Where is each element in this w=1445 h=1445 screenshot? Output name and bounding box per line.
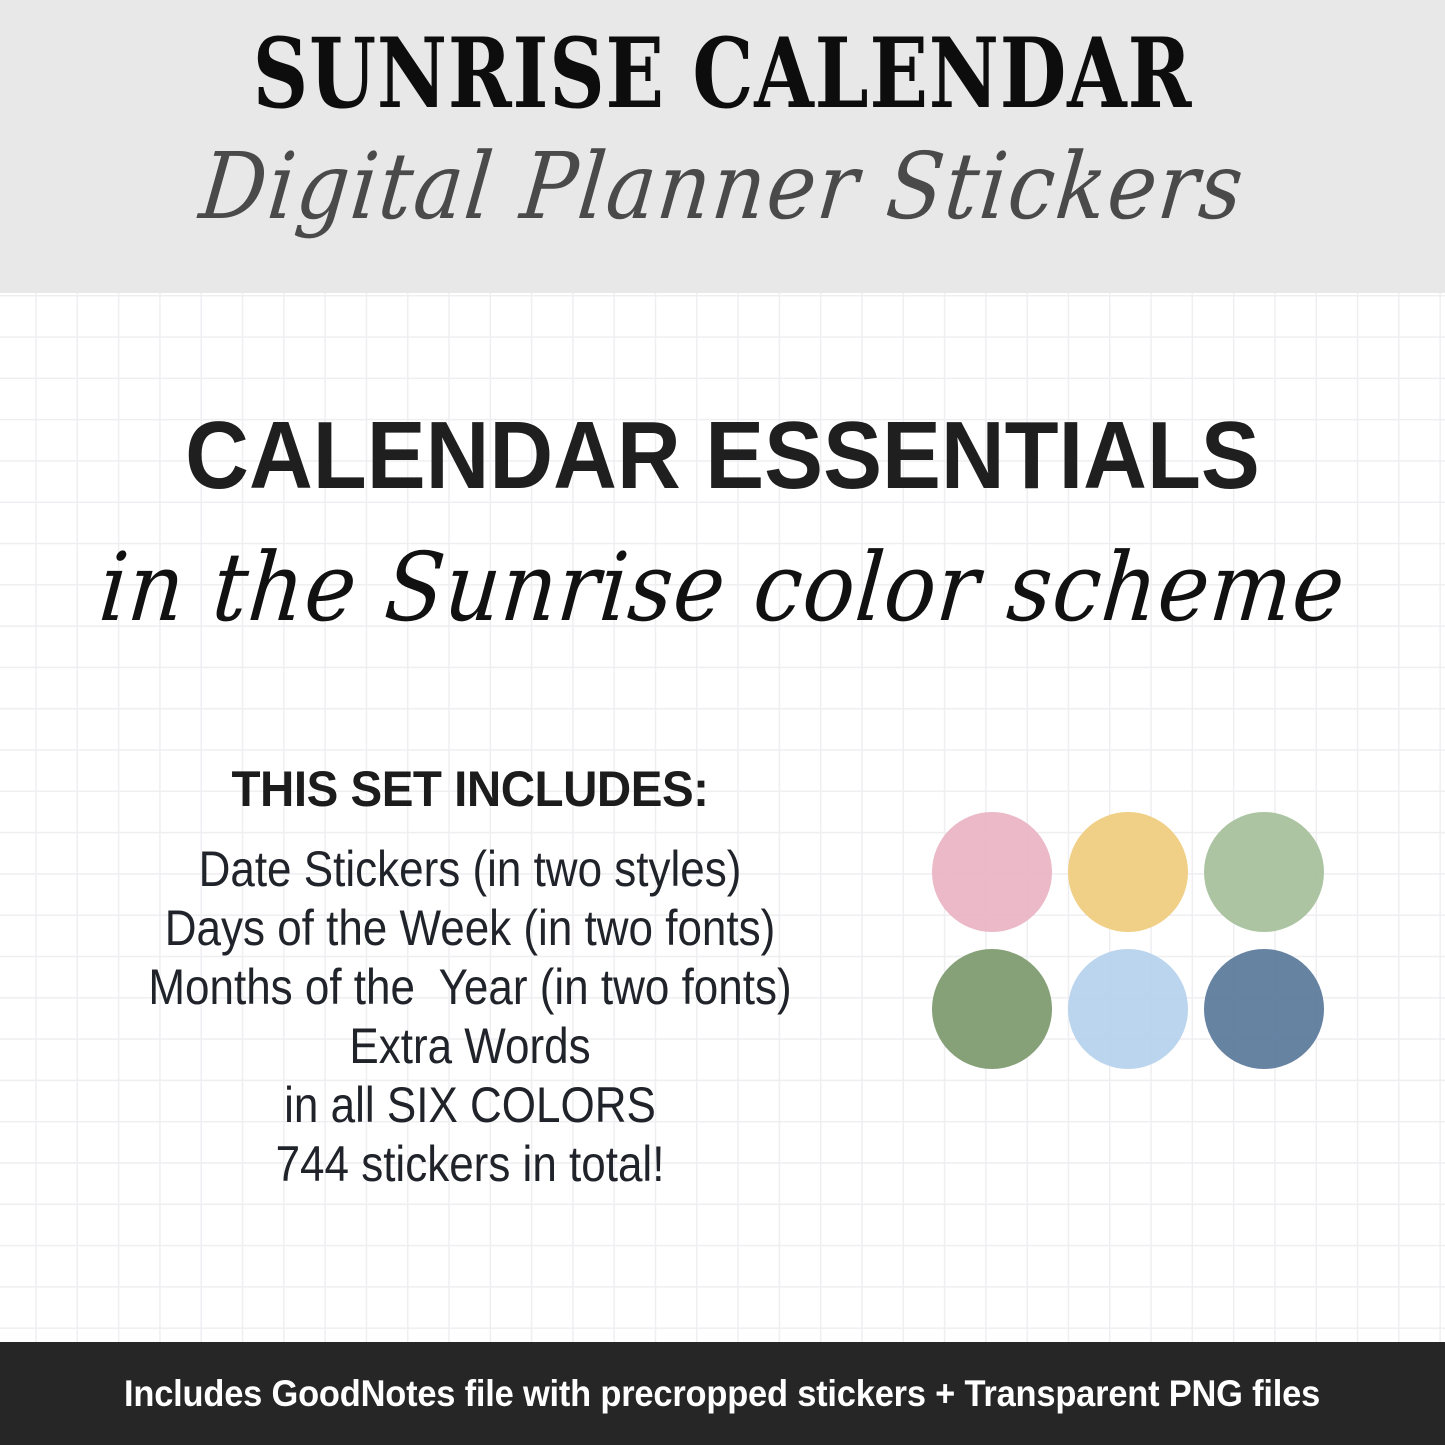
color-swatch-light-blue	[1068, 949, 1188, 1069]
page-subtitle: in the Sunrise color scheme	[0, 511, 1445, 665]
color-swatch-grid	[932, 812, 1324, 1069]
color-swatch-slate-blue	[1204, 949, 1324, 1069]
includes-list: Date Stickers (in two styles) Days of th…	[60, 840, 880, 1194]
list-item: Days of the Week (in two fonts)	[109, 899, 831, 958]
color-swatch-golden-yellow	[1068, 812, 1188, 932]
list-item: Date Stickers (in two styles)	[109, 840, 831, 899]
brand-title: SUNRISE CALENDAR	[145, 22, 1301, 126]
header-band: SUNRISE CALENDAR Digital Planner Sticker…	[0, 0, 1445, 293]
list-item: in all SIX COLORS	[109, 1076, 831, 1135]
page-title: CALENDAR ESSENTIALS	[58, 404, 1387, 508]
brand-subtitle: Digital Planner Stickers	[0, 121, 1445, 255]
includes-section: THIS SET INCLUDES: Date Stickers (in two…	[60, 760, 880, 1194]
color-swatch-light-sage	[1204, 812, 1324, 932]
color-swatch-blush-pink	[932, 812, 1052, 932]
footer-band: Includes GoodNotes file with precropped …	[0, 1342, 1445, 1445]
list-item: Extra Words	[109, 1017, 831, 1076]
color-swatch-olive-green	[932, 949, 1052, 1069]
list-item: Months of the Year (in two fonts)	[109, 958, 831, 1017]
includes-heading: THIS SET INCLUDES:	[81, 760, 860, 818]
footer-text: Includes GoodNotes file with precropped …	[124, 1372, 1320, 1416]
list-item: 744 stickers in total!	[109, 1135, 831, 1194]
promo-graphic-page: SUNRISE CALENDAR Digital Planner Sticker…	[0, 0, 1445, 1445]
